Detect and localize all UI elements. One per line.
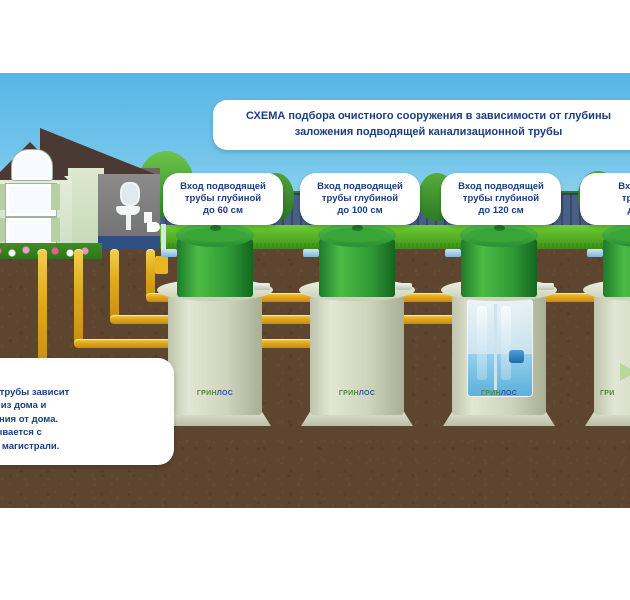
callout-line-3: до 100 см <box>309 205 411 217</box>
septic-tank-4[interactable]: ГРИ <box>594 233 630 415</box>
tank-outlet-pipe <box>254 283 270 290</box>
note-line-5: уклоном на погонный магистрали. <box>0 440 160 453</box>
tank-riser-neck <box>603 239 630 297</box>
callout-depth-100: Вход подводящей трубы глубиной до 100 см <box>300 173 420 225</box>
utility-box <box>155 256 168 274</box>
tank-cutaway-window <box>467 299 533 397</box>
tank-outlet-pipe <box>396 283 412 290</box>
window-upper <box>6 184 56 216</box>
callout-line-2: трубы глубиной <box>172 193 274 205</box>
tank-inner-column-left <box>477 306 487 380</box>
tank-riser-neck <box>319 239 394 297</box>
callout-line-3: до 14 <box>589 205 630 217</box>
tank-brand-text: ГРИН <box>481 390 501 397</box>
tank-inner-column-right <box>501 306 511 380</box>
tank-inlet-pipe <box>161 249 177 257</box>
tank-brand-text-2: ЛОС <box>217 390 233 397</box>
pipe-riser-2 <box>74 249 83 347</box>
callout-line-1: Вход подводящей <box>309 181 411 193</box>
tank-brand-text: ГРИ <box>600 390 615 397</box>
tank-brand-label: ГРИНЛОС <box>310 390 404 397</box>
septic-tank-1[interactable]: ГРИНЛОС <box>168 233 262 415</box>
house <box>0 128 167 250</box>
septic-tank-3[interactable]: ГРИНЛОС <box>452 233 546 415</box>
callout-line-2: трубы глубиной <box>450 193 552 205</box>
tank-inlet-pipe <box>587 249 603 257</box>
callout-line-1: Вход под <box>589 181 630 193</box>
tank-outlet-pipe <box>538 283 554 290</box>
callout-line-2: трубы г <box>589 193 630 205</box>
toilet-icon <box>144 212 160 232</box>
note-line-2: от длины магистрали из дома и <box>0 399 160 412</box>
callout-line-2: трубы глубиной <box>309 193 411 205</box>
bathroom-floor <box>98 236 160 250</box>
illustration-canvas: ГРИНЛОС ГРИНЛОС <box>0 0 630 600</box>
callout-line-1: Вход подводящей <box>172 181 274 193</box>
note-line-4: Магистраль прокладывается с <box>0 426 160 439</box>
note-brand-title: ГРИНЛОС <box>0 368 160 380</box>
pipe-riser-3 <box>110 249 119 323</box>
pipe-riser-1 <box>38 249 47 371</box>
note-line-1: Глубина подводящей трубы зависит <box>0 386 160 399</box>
tank-inlet-pipe <box>445 249 461 257</box>
callout-line-3: до 120 см <box>450 205 552 217</box>
toilet-bowl <box>147 222 160 232</box>
shutter-lower-right <box>51 218 60 242</box>
note-line-3: удаленности сооружения от дома. <box>0 413 160 426</box>
septic-tank-2[interactable]: ГРИНЛОС <box>310 233 404 415</box>
flower-bed <box>0 243 102 259</box>
callout-line-3: до 60 см <box>172 205 274 217</box>
tank-brand-text: ГРИН <box>197 390 217 397</box>
leaf-decoration-icon <box>620 363 630 381</box>
tank-brand-label: ГРИ <box>594 390 630 397</box>
tank-brand-text-2: ЛОС <box>359 390 375 397</box>
callout-depth-140: Вход под трубы г до 14 <box>580 173 630 225</box>
tank-pump <box>509 350 524 363</box>
callout-depth-60: Вход подводящей трубы глубиной до 60 см <box>163 173 283 225</box>
sink-pedestal <box>126 214 131 230</box>
callout-line-1: Вход подводящей <box>450 181 552 193</box>
tank-brand-text: ГРИН <box>339 390 359 397</box>
tank-riser-neck <box>177 239 252 297</box>
scene: ГРИНЛОС ГРИНЛОС <box>0 73 630 508</box>
tank-inlet-pipe <box>303 249 319 257</box>
tank-internal-pipe <box>494 304 497 390</box>
tank-brand-label: ГРИНЛОС <box>452 390 546 397</box>
window-attic <box>12 150 52 180</box>
tank-brand-text-2: ЛОС <box>501 390 517 397</box>
title-line-2: заложения подводящей канализационной тру… <box>295 126 562 138</box>
tank-brand-label: ГРИНЛОС <box>168 390 262 397</box>
shutter-upper-right <box>51 184 60 210</box>
shutter-lower-left <box>0 218 5 242</box>
shutter-upper-left <box>0 184 5 210</box>
pipe-run-3 <box>110 315 465 324</box>
tank-riser-neck <box>461 239 536 297</box>
note-panel: ГРИНЛОС Глубина подводящей трубы зависит… <box>0 358 174 465</box>
title-line-1: СХЕМА подбора очистного сооружения в зав… <box>246 110 611 122</box>
diagram-title: СХЕМА подбора очистного сооружения в зав… <box>213 100 630 150</box>
callout-depth-120: Вход подводящей трубы глубиной до 120 см <box>441 173 561 225</box>
mirror-icon <box>120 182 140 206</box>
